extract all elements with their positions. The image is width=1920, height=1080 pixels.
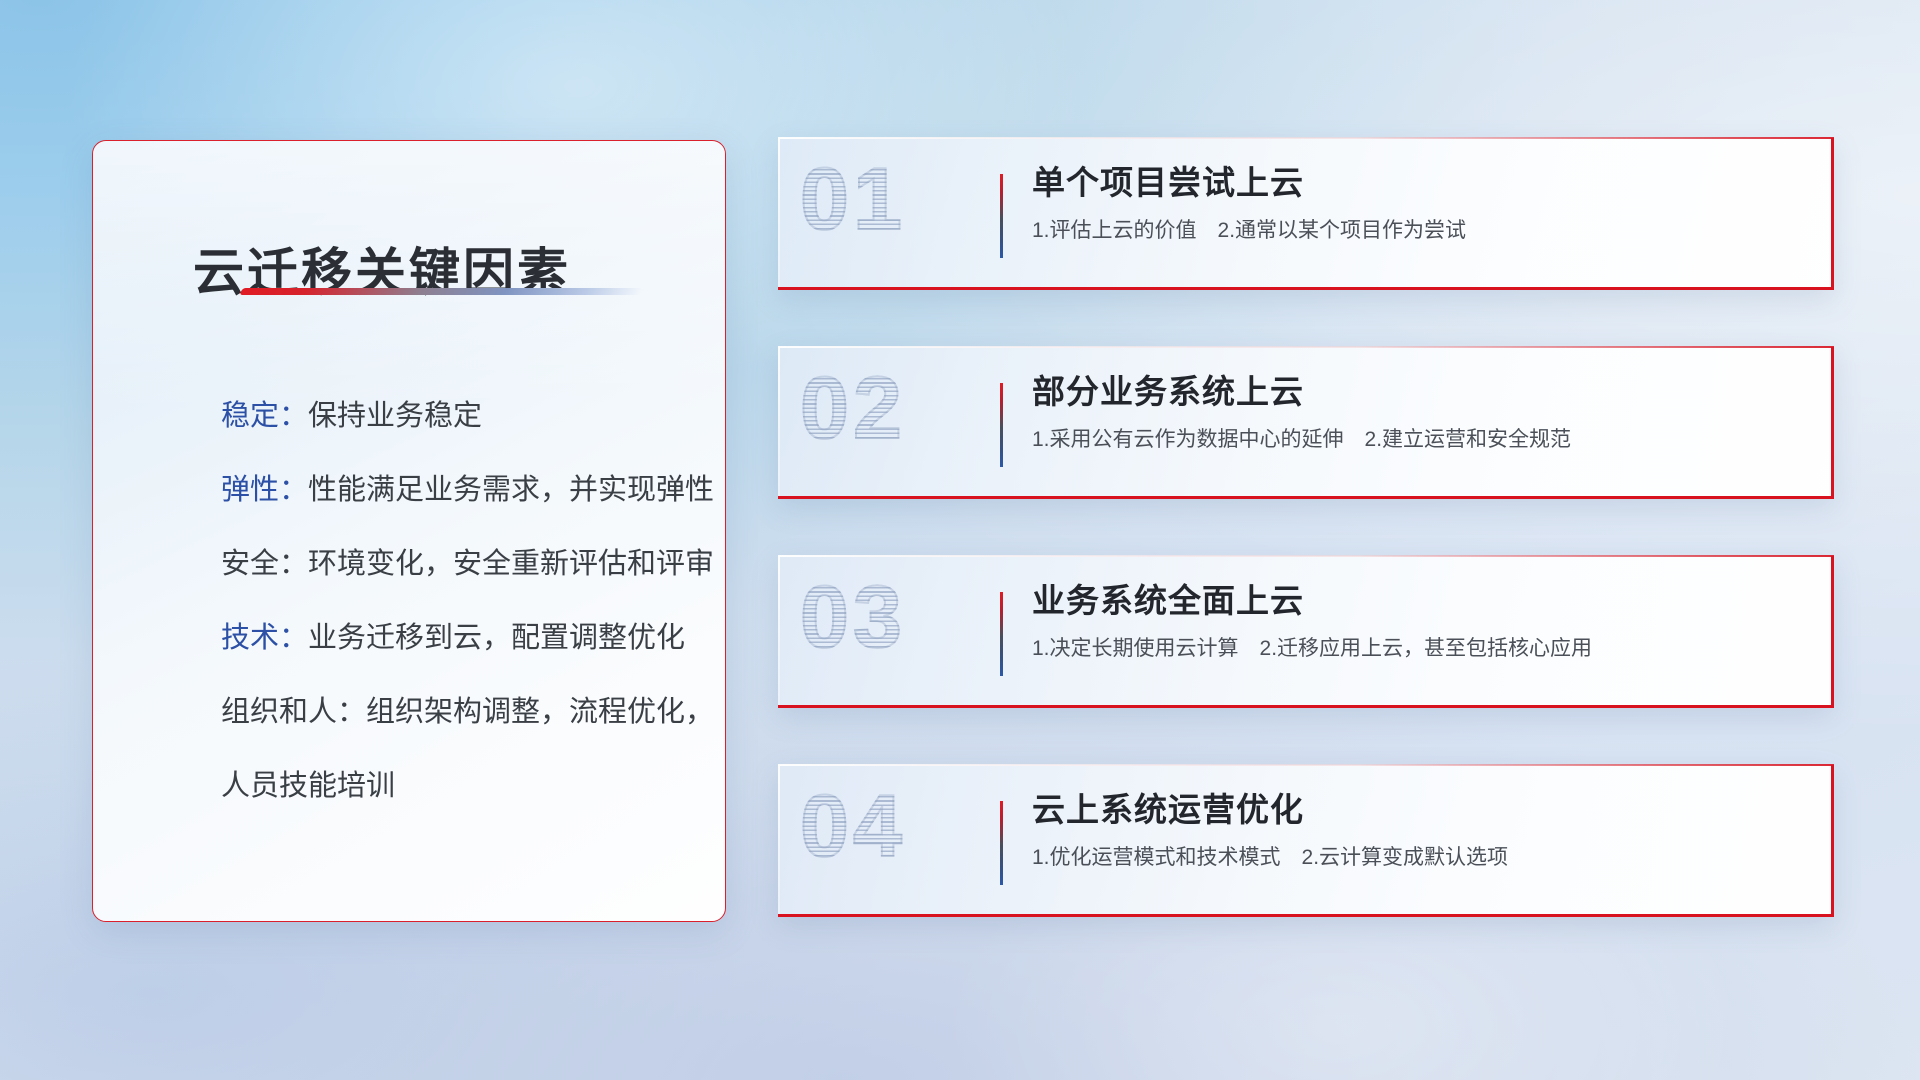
factor-row: 稳定：保持业务稳定 [221, 379, 685, 453]
stage-number-watermark: 03 [800, 566, 906, 668]
factor-value: 环境变化，安全重新评估和评审 [308, 548, 714, 580]
stage-text-block: 业务系统全面上云1.决定长期使用云计算 2.迁移应用上云，甚至包括核心应用 [1032, 578, 1805, 664]
factor-key: 安全： [221, 548, 308, 580]
stage-card-list: 01单个项目尝试上云1.评估上云的价值 2.通常以某个项目作为尝试02部分业务系… [778, 138, 1834, 974]
stage-text-block: 部分业务系统上云1.采用公有云作为数据中心的延伸 2.建立运营和安全规范 [1032, 369, 1805, 455]
stage-card[interactable]: 02部分业务系统上云1.采用公有云作为数据中心的延伸 2.建立运营和安全规范 [778, 347, 1834, 499]
stage-card[interactable]: 03业务系统全面上云1.决定长期使用云计算 2.迁移应用上云，甚至包括核心应用 [778, 556, 1834, 708]
factor-value: 组织架构调整，流程优化， [366, 696, 714, 728]
stage-number-watermark: 04 [800, 775, 906, 877]
stage-number-watermark: 01 [800, 148, 906, 250]
factor-key: 技术： [221, 622, 308, 654]
stage-accent-bar [1000, 383, 1003, 467]
stage-card[interactable]: 01单个项目尝试上云1.评估上云的价值 2.通常以某个项目作为尝试 [778, 138, 1834, 290]
stage-title: 单个项目尝试上云 [1032, 160, 1805, 206]
factor-key: 组织和人： [221, 696, 366, 728]
stage-title: 云上系统运营优化 [1032, 787, 1805, 833]
factor-row: 组织和人：组织架构调整，流程优化， [221, 675, 685, 749]
stage-text-block: 云上系统运营优化1.优化运营模式和技术模式 2.云计算变成默认选项 [1032, 787, 1805, 873]
stage-subtitle: 1.采用公有云作为数据中心的延伸 2.建立运营和安全规范 [1032, 425, 1805, 455]
stage-subtitle: 1.优化运营模式和技术模式 2.云计算变成默认选项 [1032, 843, 1805, 873]
factor-value: 人员技能培训 [221, 770, 395, 802]
factor-row: 人员技能培训 [221, 749, 685, 823]
stage-accent-bar [1000, 801, 1003, 885]
key-factors-panel: 云迁移关键因素 稳定：保持业务稳定弹性：性能满足业务需求，并实现弹性安全：环境变… [92, 140, 726, 922]
factor-row: 弹性：性能满足业务需求，并实现弹性 [221, 453, 685, 527]
factor-list: 稳定：保持业务稳定弹性：性能满足业务需求，并实现弹性安全：环境变化，安全重新评估… [221, 379, 685, 823]
stage-accent-bar [1000, 592, 1003, 676]
stage-title: 业务系统全面上云 [1032, 578, 1805, 624]
factor-key: 稳定： [221, 400, 308, 432]
factor-row: 安全：环境变化，安全重新评估和评审 [221, 527, 685, 601]
stage-text-block: 单个项目尝试上云1.评估上云的价值 2.通常以某个项目作为尝试 [1032, 160, 1805, 246]
factor-key: 弹性： [221, 474, 308, 506]
stage-accent-bar [1000, 174, 1003, 258]
factor-value: 性能满足业务需求，并实现弹性 [308, 474, 714, 506]
stage-card[interactable]: 04云上系统运营优化1.优化运营模式和技术模式 2.云计算变成默认选项 [778, 765, 1834, 917]
stage-number-watermark: 02 [800, 357, 906, 459]
stage-title: 部分业务系统上云 [1032, 369, 1805, 415]
stage-subtitle: 1.决定长期使用云计算 2.迁移应用上云，甚至包括核心应用 [1032, 634, 1805, 664]
title-underline-accent [239, 288, 642, 295]
factor-row: 技术：业务迁移到云，配置调整优化 [221, 601, 685, 675]
factor-value: 业务迁移到云，配置调整优化 [308, 622, 685, 654]
stage-subtitle: 1.评估上云的价值 2.通常以某个项目作为尝试 [1032, 216, 1805, 246]
factor-value: 保持业务稳定 [308, 400, 482, 432]
